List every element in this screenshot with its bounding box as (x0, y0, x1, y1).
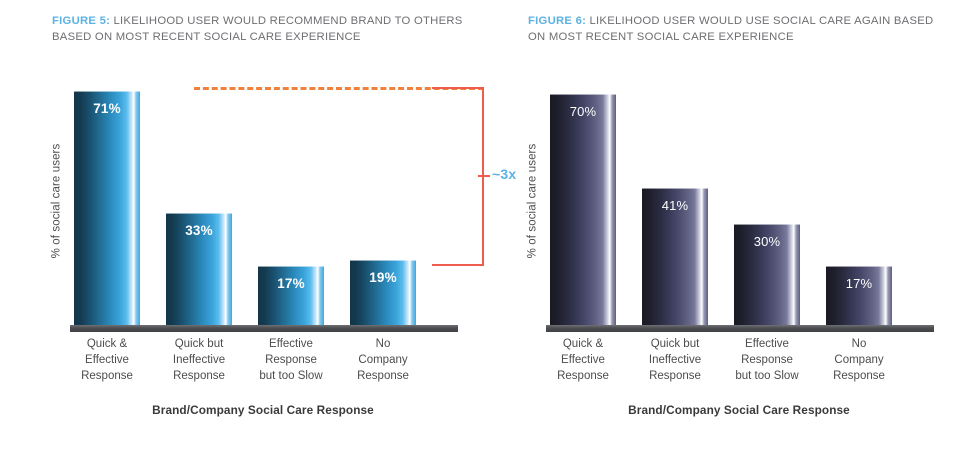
figure-6-caption: FIGURE 6: LIKELIHOOD USER WOULD USE SOCI… (528, 14, 948, 45)
tick-line: Effective (64, 352, 150, 368)
tick-line: Response (64, 368, 150, 384)
bar-slot: 30% (734, 76, 800, 326)
bar-value-label: 41% (642, 198, 708, 213)
figure-6-bars: 70% 41% 30% 17% (550, 76, 928, 326)
tick-line: Company (816, 352, 902, 368)
figure-5-bars: 71% 33% 17% 19% (74, 76, 452, 326)
tick-line: Effective (724, 336, 810, 352)
bar[interactable]: 30% (734, 224, 800, 326)
figure-5-baseline (70, 325, 458, 332)
tick-line: Quick & (64, 336, 150, 352)
figure-6-x-tick-labels: Quick & Effective Response Quick but Ine… (550, 336, 928, 394)
figure-5-panel: FIGURE 5: LIKELIHOOD USER WOULD RECOMMEN… (46, 0, 516, 450)
bar[interactable]: 17% (826, 266, 892, 326)
bar-value-label: 17% (826, 276, 892, 291)
figure-6-caption-text: LIKELIHOOD USER WOULD USE SOCIAL CARE AG… (528, 15, 933, 43)
tick-line: Effective (248, 336, 334, 352)
bar[interactable]: 33% (166, 213, 232, 326)
x-tick-label: Effective Response but too Slow (248, 336, 334, 384)
tick-line: Company (340, 352, 426, 368)
figure-5-label: FIGURE 5: (52, 15, 110, 27)
tick-line: Quick but (632, 336, 718, 352)
figure-5-x-axis-title: Brand/Company Social Care Response (74, 403, 452, 417)
tick-line: Response (340, 368, 426, 384)
bar-slot: 41% (642, 76, 708, 326)
bar[interactable]: 41% (642, 188, 708, 326)
bar-slot: 70% (550, 76, 616, 326)
bar[interactable]: 17% (258, 266, 324, 326)
figure-5-plot-area: % of social care users 71% 33% 17% (52, 70, 512, 332)
tick-line: Response (248, 352, 334, 368)
x-tick-label: Quick but Ineffective Response (156, 336, 242, 384)
figure-6-y-axis-title: % of social care users (524, 70, 540, 332)
tick-line: Response (632, 368, 718, 384)
tick-line: No (340, 336, 426, 352)
bar-value-label: 30% (734, 234, 800, 249)
tick-line: Quick & (540, 336, 626, 352)
tick-line: Ineffective (632, 352, 718, 368)
bar-slot: 17% (826, 76, 892, 326)
bar-slot: 71% (74, 76, 140, 326)
figure-6-y-axis-title-text: % of social care users (526, 144, 538, 259)
figure-5-y-axis-title-text: % of social care users (50, 144, 62, 259)
bar-value-label: 70% (550, 104, 616, 119)
bar-slot: 17% (258, 76, 324, 326)
tick-line: Response (816, 368, 902, 384)
bar[interactable]: 70% (550, 94, 616, 326)
x-tick-label: Quick & Effective Response (64, 336, 150, 384)
bar-value-label: 71% (74, 101, 140, 116)
bar-value-label: 17% (258, 276, 324, 291)
x-tick-label: Effective Response but too Slow (724, 336, 810, 384)
figure-5-y-axis-title: % of social care users (48, 70, 64, 332)
figure-6-x-axis-title: Brand/Company Social Care Response (550, 403, 928, 417)
tick-line: Ineffective (156, 352, 242, 368)
tick-line: but too Slow (248, 368, 334, 384)
tick-line: Effective (540, 352, 626, 368)
tick-line: Response (724, 352, 810, 368)
tick-line: Response (540, 368, 626, 384)
bar[interactable]: 71% (74, 91, 140, 326)
figure-6-baseline (546, 325, 934, 332)
tick-line: Response (156, 368, 242, 384)
figure-5-x-tick-labels: Quick & Effective Response Quick but Ine… (74, 336, 452, 394)
figure-6-label: FIGURE 6: (528, 15, 586, 27)
bar[interactable]: 19% (350, 260, 416, 326)
figures-page: FIGURE 5: LIKELIHOOD USER WOULD RECOMMEN… (0, 0, 959, 450)
tick-line: Quick but (156, 336, 242, 352)
figure-6-plot-area: % of social care users 70% 41% 30% (528, 70, 959, 332)
bar-slot: 19% (350, 76, 416, 326)
tick-line: No (816, 336, 902, 352)
figure-6-panel: FIGURE 6: LIKELIHOOD USER WOULD USE SOCI… (522, 0, 959, 450)
x-tick-label: No Company Response (340, 336, 426, 384)
bar-slot: 33% (166, 76, 232, 326)
bar-value-label: 19% (350, 270, 416, 285)
x-tick-label: Quick but Ineffective Response (632, 336, 718, 384)
x-tick-label: No Company Response (816, 336, 902, 384)
tick-line: but too Slow (724, 368, 810, 384)
bar-value-label: 33% (166, 223, 232, 238)
figure-5-caption: FIGURE 5: LIKELIHOOD USER WOULD RECOMMEN… (52, 14, 472, 45)
figure-5-caption-text: LIKELIHOOD USER WOULD RECOMMEND BRAND TO… (52, 15, 463, 43)
x-tick-label: Quick & Effective Response (540, 336, 626, 384)
